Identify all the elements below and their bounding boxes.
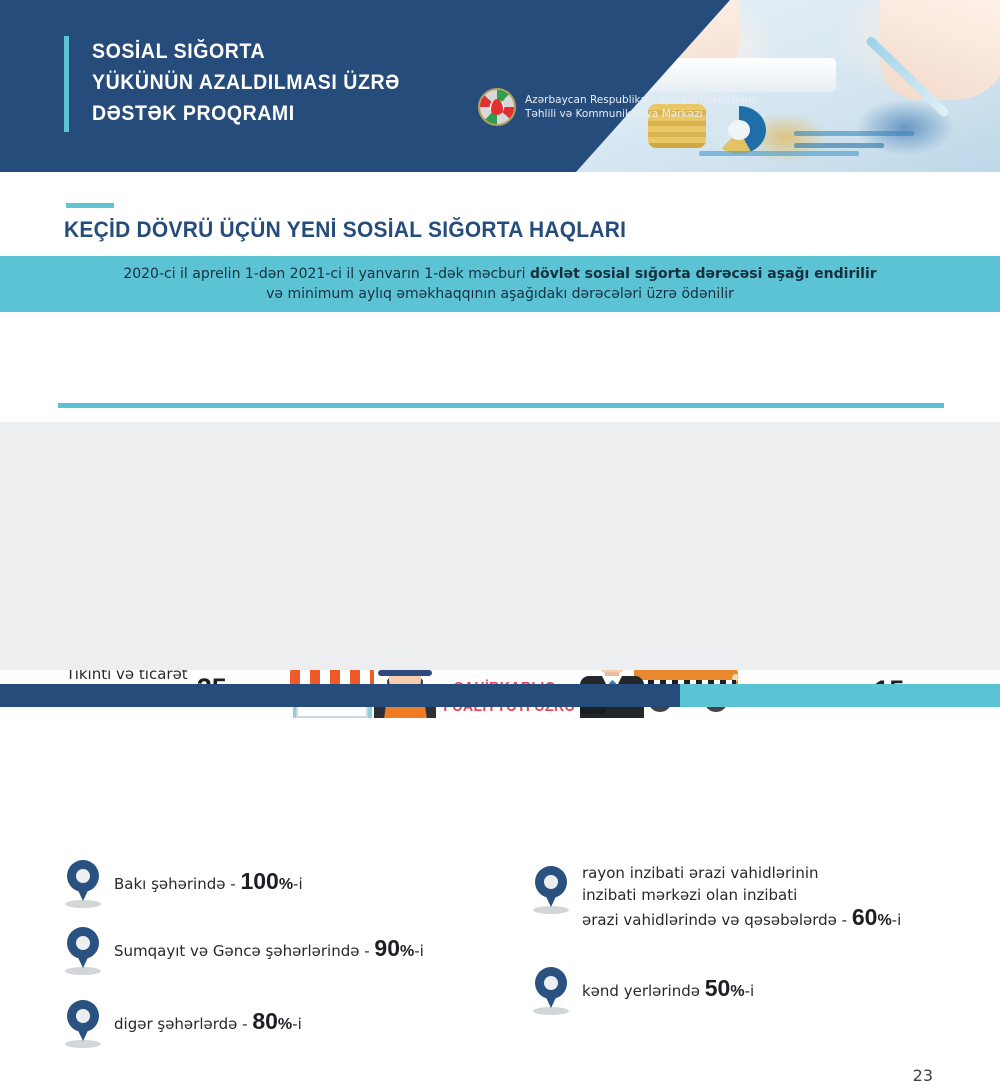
map-pin-hole — [76, 869, 90, 883]
organization-name-line-1: Azərbaycan Respublikası İqtisadi İslahat… — [525, 93, 759, 107]
location-rural-unit: % — [730, 983, 744, 1000]
location-district-centers-value: 60% — [852, 904, 892, 930]
map-pin-icon — [66, 1000, 100, 1046]
location-other-cities-number: 80 — [252, 1008, 278, 1034]
map-pin-icon — [66, 927, 100, 973]
info-banner-line-1-bold: dövlət sosial sığorta dərəcəsi aşağı end… — [530, 266, 877, 282]
location-district-centers-unit: % — [877, 912, 891, 929]
photo-chart-bar — [794, 143, 884, 148]
map-pin-icon — [66, 860, 100, 906]
location-rural-suffix: -i — [745, 982, 755, 1000]
photo-chart-bar — [699, 151, 859, 156]
info-banner: 2020-ci il aprelin 1-dən 2021-ci il yanv… — [0, 256, 1000, 312]
section-heading-rule — [66, 203, 114, 208]
location-other-cities-unit: % — [278, 1016, 292, 1033]
location-other-cities-value: 80% — [252, 1008, 292, 1034]
azerbaijan-emblem-icon — [478, 88, 516, 126]
organization-name-line-2: Təhlili və Kommunikasiya Mərkəzi — [525, 107, 759, 121]
location-rural-label: kənd yerlərində — [582, 982, 705, 1000]
location-rural-text: kənd yerlərində 50%-i — [582, 978, 754, 1002]
location-district-centers-number: 60 — [852, 904, 878, 930]
map-pin-hole — [544, 976, 558, 990]
section-heading: KEÇİD DÖVRÜ ÜÇÜN YENİ SOSİAL SIĞORTA HAQ… — [64, 217, 626, 243]
info-banner-line-1: 2020-ci il aprelin 1-dən 2021-ci il yanv… — [123, 264, 876, 284]
location-district-centers-label-line-1: rayon inzibati ərazi vahidlərinin — [582, 864, 819, 882]
map-pin-hole — [76, 936, 90, 950]
location-sumqayit-ganja-text: Sumqayıt və Gəncə şəhərlərində - 90%-i — [114, 938, 424, 962]
page-title-line-1: SOSİAL SIĞORTA — [92, 36, 483, 67]
photo-chart-bar — [794, 131, 914, 136]
map-pin-shadow — [533, 906, 569, 914]
location-district-centers-label-line-2: inzibati mərkəzi olan inzibati — [582, 886, 797, 904]
location-other-cities-text: digər şəhərlərdə - 80%-i — [114, 1011, 302, 1035]
location-other-cities-suffix: -i — [292, 1015, 302, 1033]
location-other-cities-label: digər şəhərlərdə - — [114, 1015, 252, 1033]
location-rural-number: 50 — [705, 975, 731, 1001]
footer-teal-bar — [680, 684, 1000, 707]
map-pin-shadow — [65, 967, 101, 975]
map-pin-shadow — [65, 1040, 101, 1048]
map-pin-shadow — [533, 1007, 569, 1015]
location-rural-value: 50% — [705, 975, 745, 1001]
map-pin-hole — [544, 875, 558, 889]
page-footer — [0, 684, 1000, 707]
info-banner-line-2: və minimum aylıq əməkhaqqının aşağıdakı … — [266, 284, 734, 304]
location-district-centers-label-line-3: ərazi vahidlərində və qəsəbələrdə - — [582, 911, 852, 929]
list-item: Bakı şəhərində - 100%-i — [66, 860, 303, 906]
location-baku-label: Bakı şəhərində - — [114, 875, 240, 893]
organization-logo: Azərbaycan Respublikası İqtisadi İslahat… — [478, 88, 759, 126]
location-baku-value: 100% — [240, 868, 293, 894]
location-baku-unit: % — [279, 876, 293, 893]
info-banner-line-1-plain: 2020-ci il aprelin 1-dən 2021-ci il yanv… — [123, 266, 530, 282]
location-sumqayit-ganja-value: 90% — [374, 935, 414, 961]
footer-navy-bar — [0, 684, 680, 707]
map-pin-icon — [534, 967, 568, 1013]
location-sumqayit-ganja-number: 90 — [374, 935, 400, 961]
locations-area: Bakı şəhərində - 100%-i Sumqayıt və Gənc… — [0, 422, 1000, 670]
list-item: kənd yerlərində 50%-i — [534, 967, 754, 1013]
title-accent-bar — [64, 36, 69, 132]
location-sumqayit-ganja-label: Sumqayıt və Gəncə şəhərlərində - — [114, 942, 374, 960]
location-baku-text: Bakı şəhərində - 100%-i — [114, 871, 303, 895]
page-number: 23 — [913, 1066, 933, 1085]
rates-row-underline — [58, 403, 944, 408]
location-baku-suffix: -i — [293, 875, 303, 893]
list-item: digər şəhərlərdə - 80%-i — [66, 1000, 302, 1046]
list-item: rayon inzibati ərazi vahidlərinininzibat… — [534, 862, 901, 932]
map-pin-shadow — [65, 900, 101, 908]
location-district-centers-text: rayon inzibati ərazi vahidlərinininzibat… — [582, 862, 901, 932]
page-header: SOSİAL SIĞORTA YÜKÜNÜN AZALDILMASI ÜZRƏ … — [0, 0, 1000, 172]
list-item: Sumqayıt və Gəncə şəhərlərində - 90%-i — [66, 927, 424, 973]
location-district-centers-suffix: -i — [892, 911, 902, 929]
location-sumqayit-ganja-unit: % — [400, 943, 414, 960]
location-sumqayit-ganja-suffix: -i — [414, 942, 424, 960]
map-pin-icon — [534, 866, 568, 912]
map-pin-hole — [76, 1009, 90, 1023]
page-title-line-3: DƏSTƏK PROQRAMI — [92, 98, 483, 129]
photo-hand-right — [880, 0, 1000, 100]
location-baku-number: 100 — [240, 868, 278, 894]
page-title: SOSİAL SIĞORTA YÜKÜNÜN AZALDILMASI ÜZRƏ … — [92, 36, 483, 129]
page-title-line-2: YÜKÜNÜN AZALDILMASI ÜZRƏ — [92, 67, 483, 98]
organization-name: Azərbaycan Respublikası İqtisadi İslahat… — [525, 93, 759, 121]
